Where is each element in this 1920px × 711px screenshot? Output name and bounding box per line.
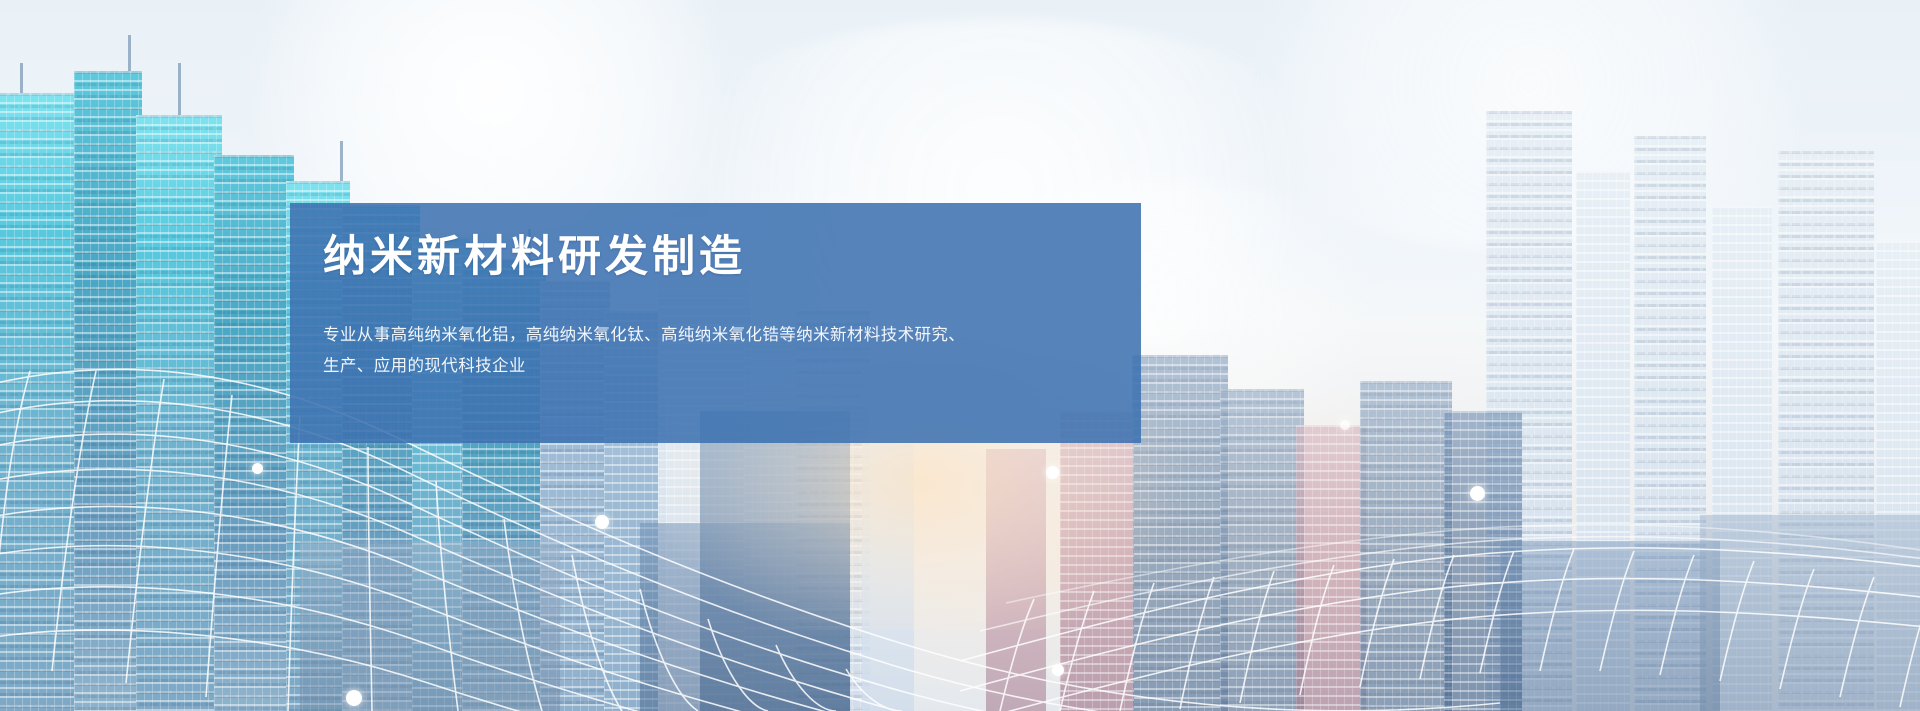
hero-banner: 纳米新材料研发制造 专业从事高纯纳米氧化铝，高纯纳米氧化钛、高纯纳米氧化锆等纳米… — [0, 0, 1920, 711]
mesh-node — [346, 690, 362, 706]
mesh-node — [1046, 466, 1059, 479]
mesh-node — [1340, 420, 1350, 430]
page-title: 纳米新材料研发制造 — [323, 236, 746, 279]
mesh-node — [1470, 486, 1485, 501]
mesh-node — [252, 463, 263, 474]
banner-description: 专业从事高纯纳米氧化铝，高纯纳米氧化钛、高纯纳米氧化锆等纳米新材料技术研究、 生… — [323, 320, 1113, 382]
mesh-node — [1052, 664, 1064, 676]
mesh-node — [595, 515, 609, 529]
description-line: 生产、应用的现代科技企业 — [323, 351, 1113, 382]
description-line: 专业从事高纯纳米氧化铝，高纯纳米氧化钛、高纯纳米氧化锆等纳米新材料技术研究、 — [323, 320, 1113, 351]
